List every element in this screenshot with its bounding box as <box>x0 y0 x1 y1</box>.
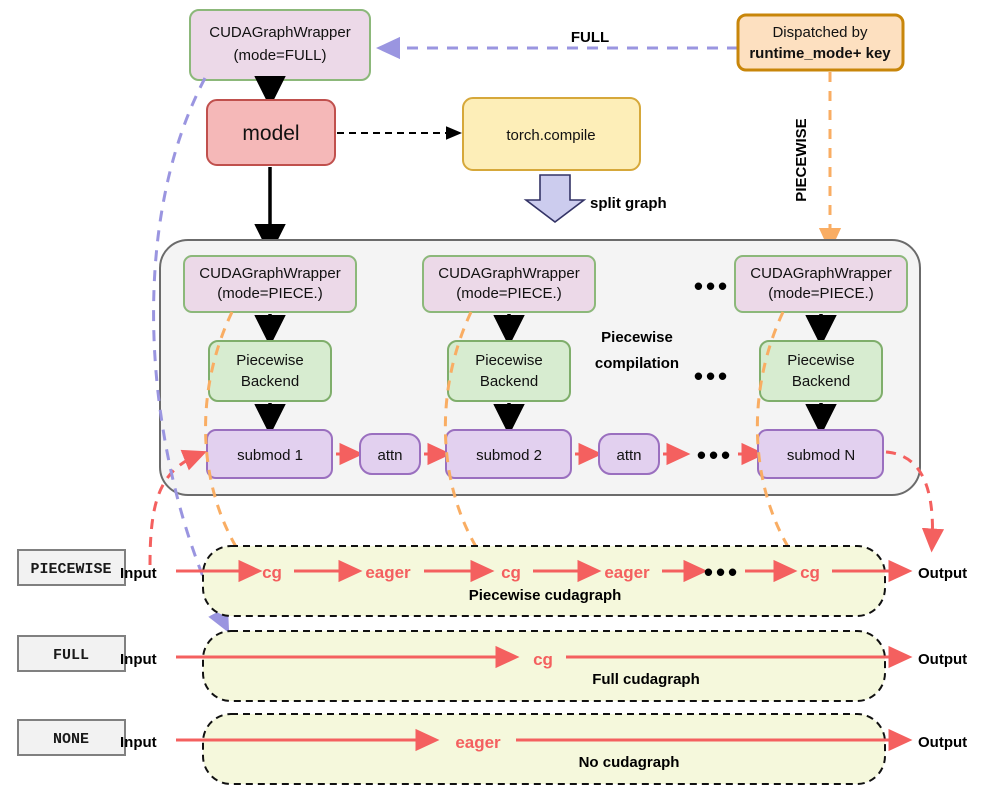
torch-compile-label: torch.compile <box>506 127 595 144</box>
step-p-dots: ••• <box>704 557 740 587</box>
node-attn-1[interactable]: attn <box>360 434 420 474</box>
runtime-row-full: FULL Input cg Output Full cudagraph <box>18 631 967 701</box>
node-wrapper-piece-2[interactable]: CUDAGraphWrapper (mode=PIECE.) <box>423 256 595 312</box>
edge-label-piecewise: PIECEWISE <box>793 118 810 201</box>
node-wrapper-piece-n[interactable]: CUDAGraphWrapper (mode=PIECE.) <box>735 256 907 312</box>
submod-2-label: submod 2 <box>476 447 542 464</box>
attn-1-label: attn <box>377 447 402 464</box>
diagram-svg: FULL CUDAGraphWrapper (mode=FULL) Dispat… <box>0 0 985 800</box>
wrapper-piece-1-line2: (mode=PIECE.) <box>217 285 322 302</box>
group-ellipsis-bottom: ••• <box>697 440 733 470</box>
group-ellipsis-mid: ••• <box>694 361 730 391</box>
backend-1-line2: Backend <box>241 373 299 390</box>
backend-2-line1: Piecewise <box>475 352 543 369</box>
submod-1-label: submod 1 <box>237 447 303 464</box>
attn-2-label: attn <box>616 447 641 464</box>
output-label-piecewise: Output <box>918 565 967 582</box>
input-label-full: Input <box>120 651 157 668</box>
band-label-none: No cudagraph <box>579 754 680 771</box>
node-dispatched-by[interactable]: Dispatched by runtime_mode+ key <box>738 15 903 70</box>
node-attn-2[interactable]: attn <box>599 434 659 474</box>
mode-label-full: FULL <box>53 647 89 664</box>
step-p-cg2: cg <box>501 563 521 582</box>
wrapper-piece-n-line2: (mode=PIECE.) <box>768 285 873 302</box>
dispatch-line2: runtime_mode+ key <box>749 45 891 62</box>
step-p-cg1: cg <box>262 563 282 582</box>
input-label-piecewise: Input <box>120 565 157 582</box>
dispatch-line1: Dispatched by <box>772 24 868 41</box>
model-label: model <box>242 122 299 145</box>
split-graph-arrow <box>526 175 584 222</box>
node-backend-n[interactable]: Piecewise Backend <box>760 341 882 401</box>
input-label-none: Input <box>120 734 157 751</box>
runtime-row-none: NONE Input eager Output No cudagraph <box>18 714 967 784</box>
mode-label-piecewise: PIECEWISE <box>30 561 111 578</box>
step-p-cg3: cg <box>800 563 820 582</box>
backend-n-line1: Piecewise <box>787 352 855 369</box>
node-submod-2[interactable]: submod 2 <box>446 430 571 478</box>
band-piecewise <box>203 546 885 616</box>
wrapper-piece-n-line1: CUDAGraphWrapper <box>750 265 891 282</box>
edge-label-full: FULL <box>571 29 609 46</box>
piecewise-column-n: CUDAGraphWrapper (mode=PIECE.) Piecewise… <box>735 256 907 478</box>
output-label-full: Output <box>918 651 967 668</box>
wrapper-piece-2-line2: (mode=PIECE.) <box>456 285 561 302</box>
group-title-line2: compilation <box>595 355 679 372</box>
group-title-line1: Piecewise <box>601 329 673 346</box>
step-p-eager1: eager <box>365 563 411 582</box>
output-label-none: Output <box>918 734 967 751</box>
node-wrapper-piece-1[interactable]: CUDAGraphWrapper (mode=PIECE.) <box>184 256 356 312</box>
split-graph-label: split graph <box>590 195 667 212</box>
wrapper-piece-1-line1: CUDAGraphWrapper <box>199 265 340 282</box>
node-backend-1[interactable]: Piecewise Backend <box>209 341 331 401</box>
wrapper-piece-2-line1: CUDAGraphWrapper <box>438 265 579 282</box>
band-label-piecewise: Piecewise cudagraph <box>469 587 622 604</box>
backend-2-line2: Backend <box>480 373 538 390</box>
backend-1-line1: Piecewise <box>236 352 304 369</box>
step-n-eager: eager <box>455 733 501 752</box>
step-p-eager2: eager <box>604 563 650 582</box>
group-ellipsis-top: ••• <box>694 271 730 301</box>
node-model[interactable]: model <box>207 100 335 165</box>
band-none <box>203 714 885 784</box>
node-cudagraphwrapper-full[interactable]: CUDAGraphWrapper (mode=FULL) <box>190 10 370 80</box>
diagram-canvas: FULL CUDAGraphWrapper (mode=FULL) Dispat… <box>0 0 985 800</box>
band-label-full: Full cudagraph <box>592 671 700 688</box>
node-torch-compile[interactable]: torch.compile <box>463 98 640 170</box>
node-submod-1[interactable]: submod 1 <box>207 430 332 478</box>
backend-n-line2: Backend <box>792 373 850 390</box>
wrapper-full-line2: (mode=FULL) <box>234 47 327 64</box>
runtime-row-piecewise: PIECEWISE Input cg eager cg eager ••• cg… <box>18 546 967 616</box>
step-f-cg: cg <box>533 650 553 669</box>
node-backend-2[interactable]: Piecewise Backend <box>448 341 570 401</box>
node-submod-n[interactable]: submod N <box>758 430 883 478</box>
wrapper-full-line1: CUDAGraphWrapper <box>209 24 350 41</box>
mode-label-none: NONE <box>53 731 89 748</box>
submod-n-label: submod N <box>787 447 855 464</box>
